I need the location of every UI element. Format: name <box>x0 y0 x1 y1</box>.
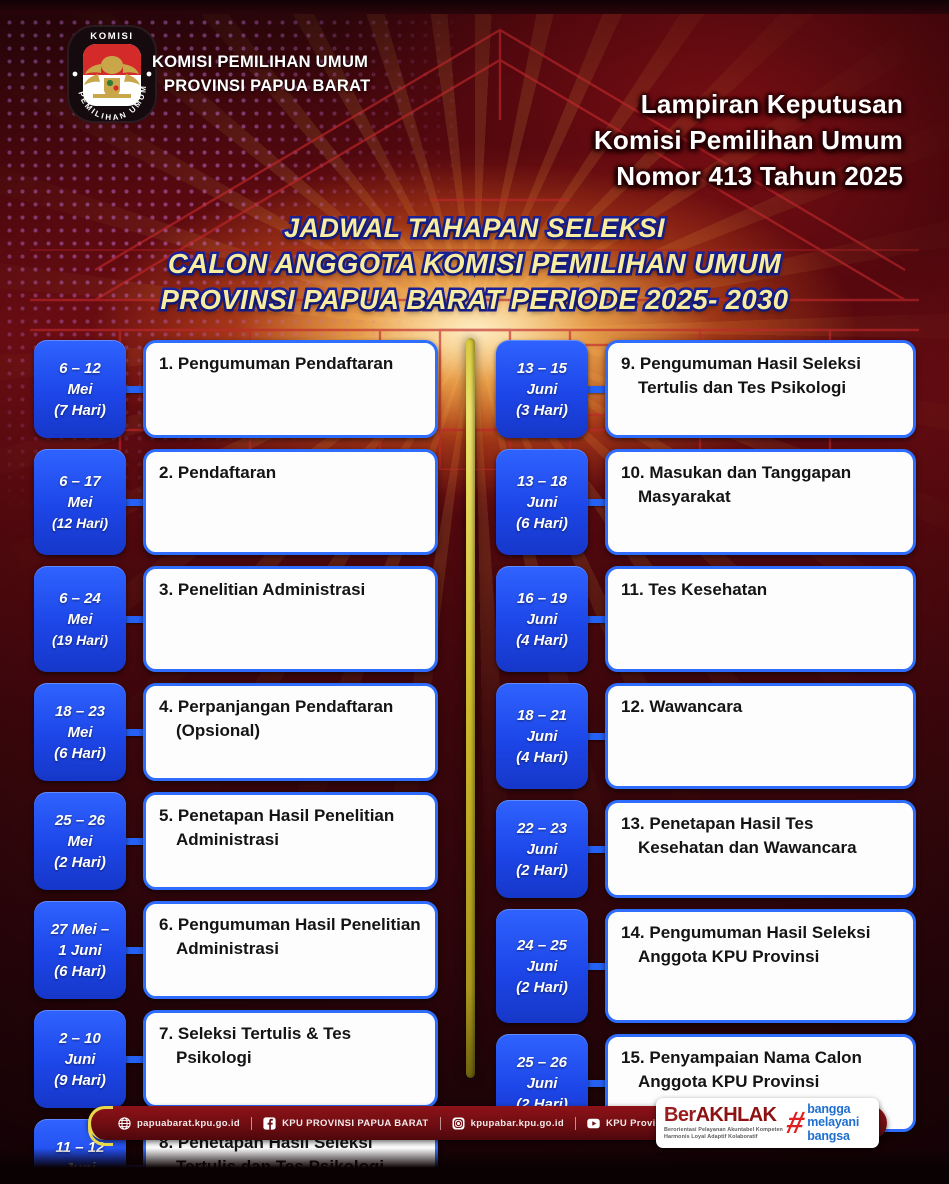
column-divider <box>466 338 475 1078</box>
connector-line <box>588 963 605 970</box>
poster-root: KOMISI PEMILIHAN UMUM KOMISI PEMILIHAN U… <box>0 0 949 1184</box>
berakhlak-wordmark: BerAKHLAK <box>664 1105 783 1125</box>
social-link-facebook[interactable]: KPU PROVINSI PAPUA BARAT <box>251 1117 440 1130</box>
stage-card: 4. Perpanjangan Pendaftaran (Opsional) <box>143 683 438 781</box>
tagline-line-2: melayani <box>807 1116 859 1130</box>
schedule-row: 22 – 23Juni(2 Hari)13. Penetapan Hasil T… <box>496 800 916 898</box>
connector-line <box>126 386 143 393</box>
schedule-row: 16 – 19Juni(4 Hari)11. Tes Kesehatan <box>496 566 916 672</box>
berakhlak-ber: Ber <box>664 1104 696 1126</box>
date-range-label: Juni <box>527 492 558 513</box>
duration-label: (7 Hari) <box>54 400 106 421</box>
date-range-label: Mei <box>67 831 92 852</box>
date-range-label: 18 – 23 <box>55 701 105 722</box>
schedule-row: 27 Mei –1 Juni(6 Hari)6. Pengumuman Hasi… <box>34 901 438 999</box>
instagram-icon <box>452 1117 465 1130</box>
stage-card: 12. Wawancara <box>605 683 916 789</box>
stage-label: 5. Penetapan Hasil Penelitian Administra… <box>159 804 423 852</box>
stage-label: 4. Perpanjangan Pendaftaran (Opsional) <box>159 695 423 743</box>
connector-line <box>588 1080 605 1087</box>
date-chip: 27 Mei –1 Juni(6 Hari) <box>34 901 126 999</box>
decree-reference: Lampiran Keputusan Komisi Pemilihan Umum… <box>594 86 903 194</box>
youtube-icon <box>587 1117 600 1130</box>
duration-label: (4 Hari) <box>516 747 568 768</box>
schedule-row: 24 – 25Juni(2 Hari)14. Pengumuman Hasil … <box>496 909 916 1023</box>
date-range-label: 13 – 18 <box>517 471 567 492</box>
date-range-label: 25 – 26 <box>517 1052 567 1073</box>
date-chip: 6 – 24Mei(19 Hari) <box>34 566 126 672</box>
date-chip: 16 – 19Juni(4 Hari) <box>496 566 588 672</box>
date-chip: 13 – 15Juni(3 Hari) <box>496 340 588 438</box>
stage-card: 6. Pengumuman Hasil Penelitian Administr… <box>143 901 438 999</box>
duration-label: (3 Hari) <box>516 400 568 421</box>
stage-card: 11. Tes Kesehatan <box>605 566 916 672</box>
date-range-label: Mei <box>67 722 92 743</box>
bangga-tagline: bangga melayani bangsa <box>807 1103 859 1144</box>
globe-icon <box>118 1117 131 1130</box>
footer-rule <box>0 1174 949 1184</box>
stage-label: 7. Seleksi Tertulis & Tes Psikologi <box>159 1022 423 1070</box>
schedule-row: 18 – 21Juni(4 Hari)12. Wawancara <box>496 683 916 789</box>
stage-card: 14. Pengumuman Hasil Seleksi Anggota KPU… <box>605 909 916 1023</box>
berakhlak-values: Berorientasi Pelayanan Akuntabel Kompete… <box>664 1127 783 1141</box>
duration-label: (2 Hari) <box>516 860 568 881</box>
stage-card: 13. Penetapan Hasil Tes Kesehatan dan Wa… <box>605 800 916 898</box>
date-chip: 6 – 12Mei(7 Hari) <box>34 340 126 438</box>
date-range-label: 6 – 24 <box>59 588 101 609</box>
date-range-label: Mei <box>67 609 92 630</box>
date-range-label: Juni <box>527 379 558 400</box>
title-line-2: CALON ANGGOTA KOMISI PEMILIHAN UMUM <box>0 246 949 282</box>
date-chip: 18 – 21Juni(4 Hari) <box>496 683 588 789</box>
connector-line <box>588 733 605 740</box>
stage-label: 1. Pengumuman Pendaftaran <box>159 352 423 376</box>
stage-card: 2. Pendaftaran <box>143 449 438 555</box>
duration-label: (12 Hari) <box>52 513 108 534</box>
connector-line <box>126 838 143 845</box>
stage-label: 10. Masukan dan Tanggapan Masyarakat <box>621 461 901 509</box>
social-link-label: KPU PROVINSI PAPUA BARAT <box>282 1118 429 1129</box>
berakhlak-logo: BerAKHLAK Berorientasi Pelayanan Akuntab… <box>656 1098 879 1148</box>
connector-line <box>126 947 143 954</box>
poster-footer: papuabarat.kpu.go.idKPU PROVINSI PAPUA B… <box>0 1088 949 1184</box>
date-chip: 18 – 23Mei(6 Hari) <box>34 683 126 781</box>
date-range-label: 13 – 15 <box>517 358 567 379</box>
stage-label: 15. Penyampaian Nama Calon Anggota KPU P… <box>621 1046 901 1094</box>
schedule-row: 13 – 18Juni(6 Hari)10. Masukan dan Tangg… <box>496 449 916 555</box>
connector-line <box>588 616 605 623</box>
schedule-row: 18 – 23Mei(6 Hari)4. Perpanjangan Pendaf… <box>34 683 438 781</box>
title-line-1: JADWAL TAHAPAN SELEKSI <box>0 210 949 246</box>
schedule-row: 25 – 26Mei(2 Hari)5. Penetapan Hasil Pen… <box>34 792 438 890</box>
date-range-label: Juni <box>527 956 558 977</box>
date-range-label: 24 – 25 <box>517 935 567 956</box>
connector-line <box>126 616 143 623</box>
decree-line-1: Lampiran Keputusan <box>594 86 903 122</box>
stage-card: 1. Pengumuman Pendaftaran <box>143 340 438 438</box>
stage-card: 3. Penelitian Administrasi <box>143 566 438 672</box>
date-chip: 24 – 25Juni(2 Hari) <box>496 909 588 1023</box>
stage-label: 14. Pengumuman Hasil Seleksi Anggota KPU… <box>621 921 901 969</box>
schedule-row: 6 – 17Mei(12 Hari)2. Pendaftaran <box>34 449 438 555</box>
date-range-label: Juni <box>527 726 558 747</box>
connector-line <box>588 499 605 506</box>
org-line-2: PROVINSI PAPUA BARAT <box>152 74 370 98</box>
date-range-label: 18 – 21 <box>517 705 567 726</box>
connector-line <box>588 386 605 393</box>
social-link-label: kpupabar.kpu.go.id <box>471 1118 564 1129</box>
stage-label: 9. Pengumuman Hasil Seleksi Tertulis dan… <box>621 352 901 400</box>
date-range-label: 6 – 17 <box>59 471 101 492</box>
schedule-row: 13 – 15Juni(3 Hari)9. Pengumuman Hasil S… <box>496 340 916 438</box>
duration-label: (6 Hari) <box>516 513 568 534</box>
social-link-instagram[interactable]: kpupabar.kpu.go.id <box>440 1117 575 1130</box>
social-link-globe[interactable]: papuabarat.kpu.go.id <box>107 1117 251 1130</box>
stage-label: 3. Penelitian Administrasi <box>159 578 423 602</box>
bangga-melayani-bangsa: # bangga melayani bangsa <box>787 1103 859 1144</box>
duration-label: (2 Hari) <box>516 977 568 998</box>
schedule-column-right: 13 – 15Juni(3 Hari)9. Pengumuman Hasil S… <box>496 340 916 1143</box>
stage-card: 10. Masukan dan Tanggapan Masyarakat <box>605 449 916 555</box>
stage-label: 6. Pengumuman Hasil Penelitian Administr… <box>159 913 423 961</box>
stage-label: 12. Wawancara <box>621 695 901 719</box>
connector-line <box>126 729 143 736</box>
duration-label: (6 Hari) <box>54 743 106 764</box>
date-chip: 25 – 26Mei(2 Hari) <box>34 792 126 890</box>
org-line-1: KOMISI PEMILIHAN UMUM <box>152 50 370 74</box>
duration-label: (6 Hari) <box>54 961 106 982</box>
date-chip: 6 – 17Mei(12 Hari) <box>34 449 126 555</box>
berakhlak-values-line-2: Harmonis Loyal Adaptif Kolaboratif <box>664 1134 783 1141</box>
stage-label: 2. Pendaftaran <box>159 461 423 485</box>
decree-line-3: Nomor 413 Tahun 2025 <box>594 158 903 194</box>
tagline-line-1: bangga <box>807 1103 859 1117</box>
date-range-label: Juni <box>527 839 558 860</box>
date-range-label: Juni <box>527 609 558 630</box>
connector-line <box>588 846 605 853</box>
date-range-label: Juni <box>65 1049 96 1070</box>
date-range-label: 22 – 23 <box>517 818 567 839</box>
poster-header: KOMISI PEMILIHAN UMUM KOMISI PEMILIHAN U… <box>0 0 949 200</box>
date-range-label: 16 – 19 <box>517 588 567 609</box>
decree-line-2: Komisi Pemilihan Umum <box>594 122 903 158</box>
stage-card: 5. Penetapan Hasil Penelitian Administra… <box>143 792 438 890</box>
stage-card: 9. Pengumuman Hasil Seleksi Tertulis dan… <box>605 340 916 438</box>
connector-line <box>126 499 143 506</box>
duration-label: (19 Hari) <box>52 630 108 651</box>
social-link-label: papuabarat.kpu.go.id <box>137 1118 240 1129</box>
schedule-row: 6 – 12Mei(7 Hari)1. Pengumuman Pendaftar… <box>34 340 438 438</box>
hashtag-icon: # <box>784 1108 808 1138</box>
stage-label: 13. Penetapan Hasil Tes Kesehatan dan Wa… <box>621 812 901 860</box>
berakhlak-values-line-1: Berorientasi Pelayanan Akuntabel Kompete… <box>664 1127 783 1134</box>
page-title: JADWAL TAHAPAN SELEKSI CALON ANGGOTA KOM… <box>0 210 949 318</box>
schedule-column-left: 6 – 12Mei(7 Hari)1. Pengumuman Pendaftar… <box>34 340 438 1184</box>
tagline-line-3: bangsa <box>807 1130 859 1144</box>
kpu-logo-icon: KOMISI PEMILIHAN UMUM <box>60 22 164 126</box>
duration-label: (4 Hari) <box>516 630 568 651</box>
date-range-label: 1 Juni <box>58 940 101 961</box>
stage-label: 11. Tes Kesehatan <box>621 578 901 602</box>
duration-label: (2 Hari) <box>54 852 106 873</box>
organization-name: KOMISI PEMILIHAN UMUM PROVINSI PAPUA BAR… <box>152 50 370 98</box>
date-range-label: 25 – 26 <box>55 810 105 831</box>
berakhlak-text-block: BerAKHLAK Berorientasi Pelayanan Akuntab… <box>664 1105 783 1141</box>
berakhlak-akhlak: AKHLAK <box>696 1104 777 1126</box>
date-chip: 13 – 18Juni(6 Hari) <box>496 449 588 555</box>
date-chip: 22 – 23Juni(2 Hari) <box>496 800 588 898</box>
svg-text:KOMISI: KOMISI <box>90 31 133 42</box>
date-range-label: 6 – 12 <box>59 358 101 379</box>
title-line-3: PROVINSI PAPUA BARAT PERIODE 2025- 2030 <box>0 282 949 318</box>
connector-line <box>126 1056 143 1063</box>
date-range-label: 2 – 10 <box>59 1028 101 1049</box>
schedule-row: 6 – 24Mei(19 Hari)3. Penelitian Administ… <box>34 566 438 672</box>
date-range-label: Mei <box>67 492 92 513</box>
date-range-label: 27 Mei – <box>51 919 109 940</box>
date-range-label: Mei <box>67 379 92 400</box>
facebook-icon <box>263 1117 276 1130</box>
